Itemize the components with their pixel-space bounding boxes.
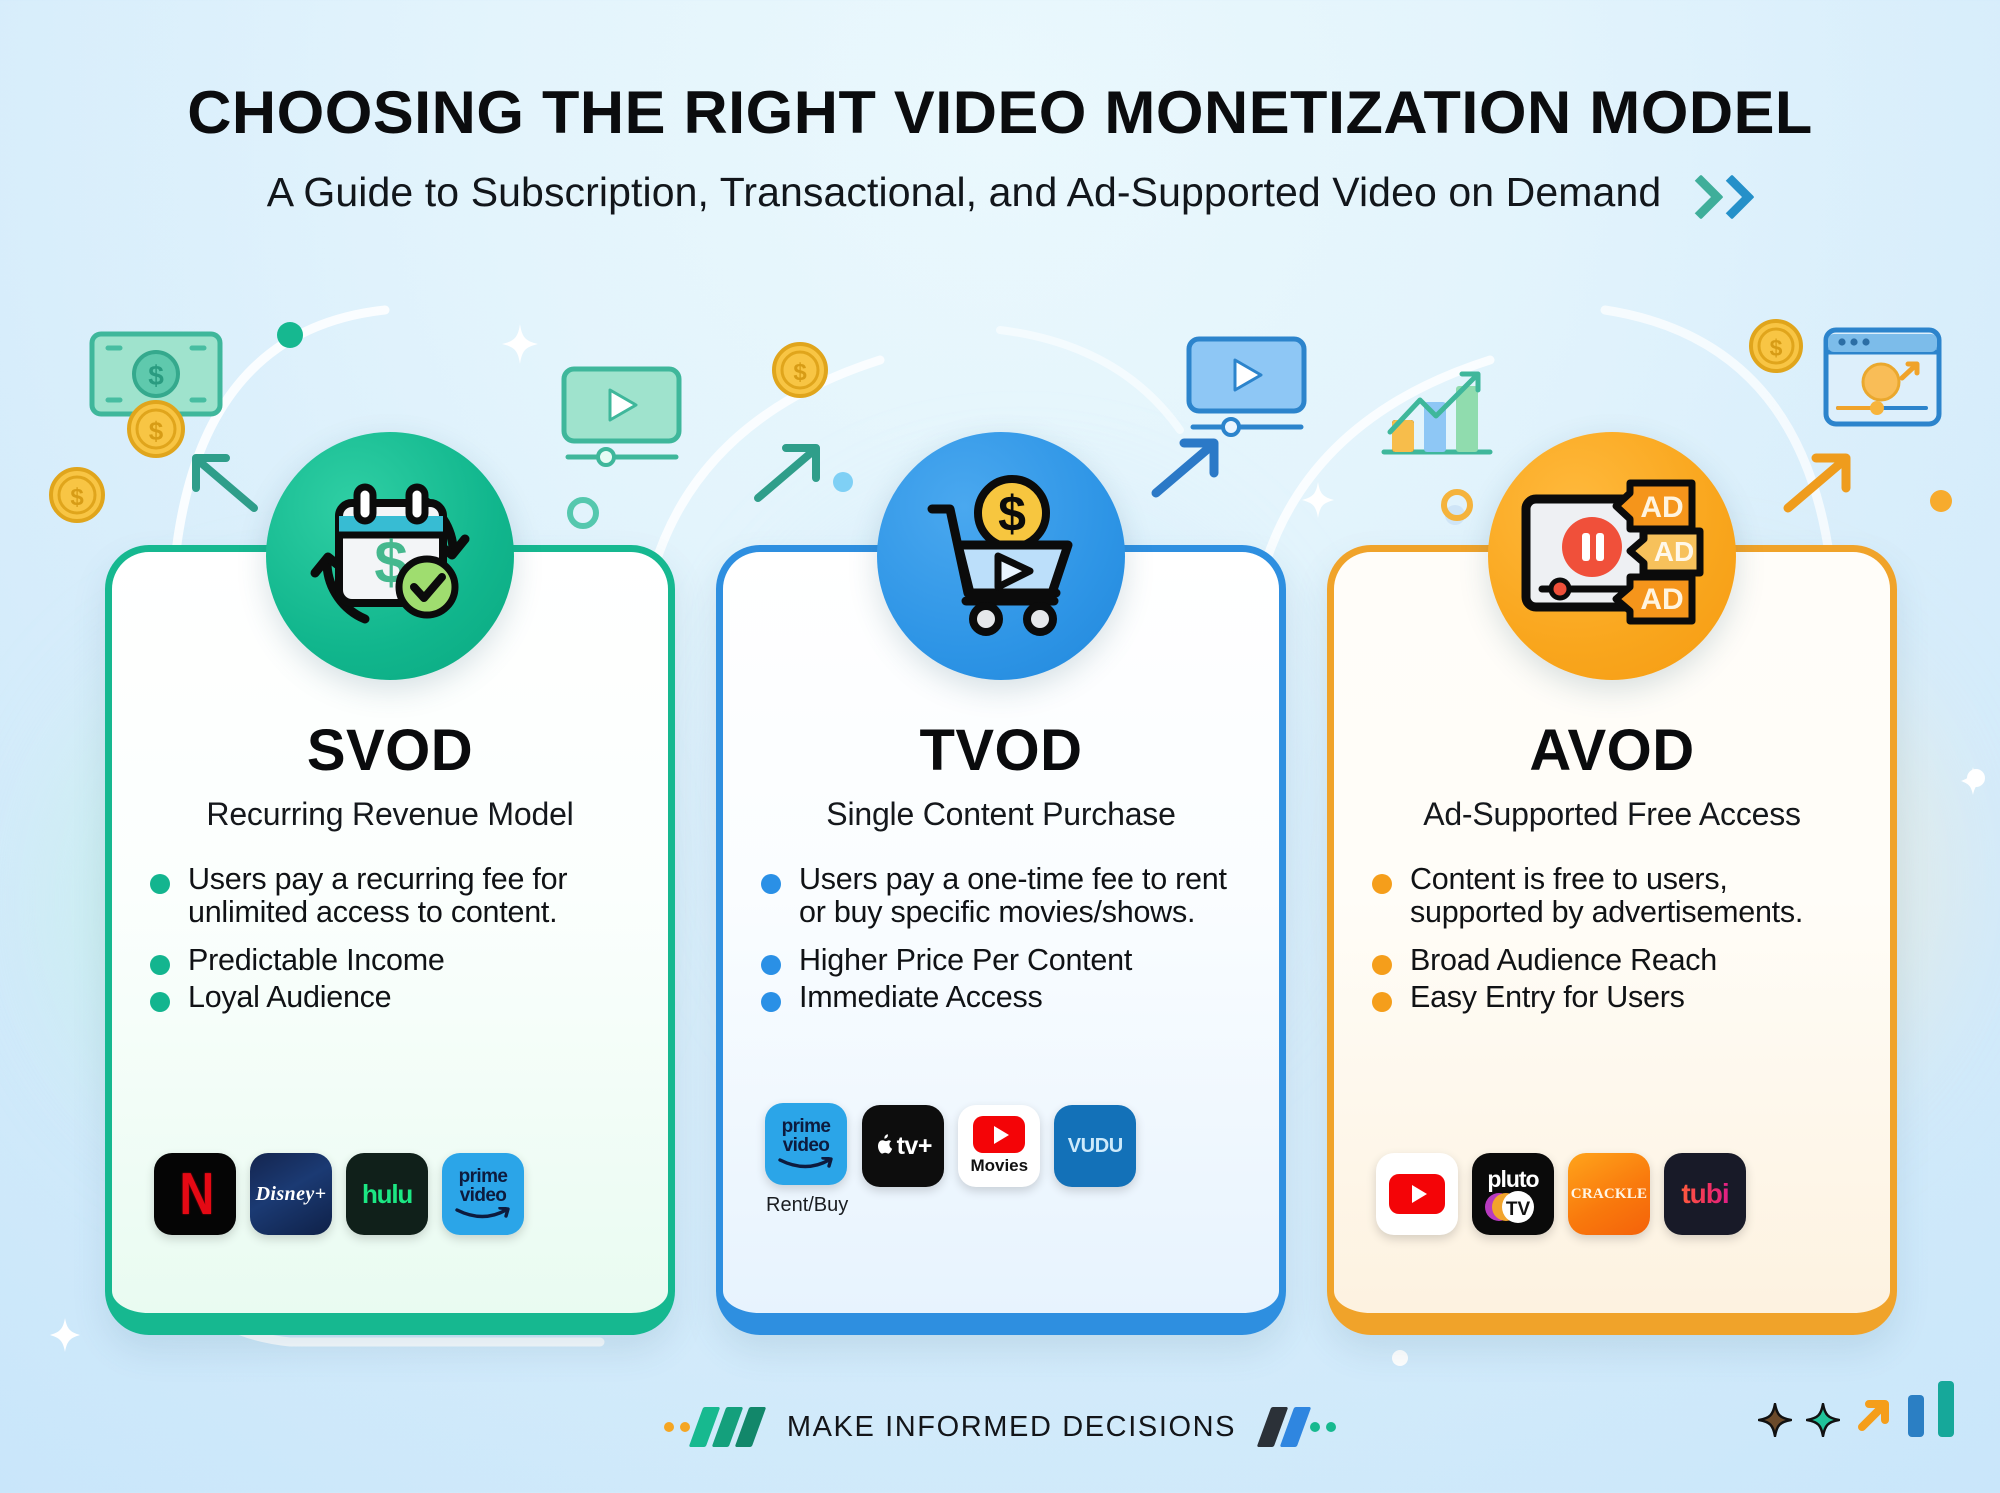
footer: MAKE INFORMED DECISIONS xyxy=(0,1407,2000,1447)
brand-youtube-icon[interactable] xyxy=(1376,1153,1458,1235)
netflix-label: N xyxy=(179,1169,210,1219)
card-tvod[interactable]: $ TVOD Single Content Purchase Users pay… xyxy=(716,545,1286,1335)
brand-note: Rent/Buy xyxy=(766,1194,848,1217)
brand-tubi-icon[interactable]: tubi xyxy=(1664,1153,1746,1235)
bullet-text: Users pay a one-time fee to rent or buy … xyxy=(799,863,1241,928)
slash-marks-icon xyxy=(1264,1407,1336,1447)
bullet-dot-icon xyxy=(1372,955,1392,975)
bar-chart-icon xyxy=(1908,1395,1924,1437)
card-svod[interactable]: $ SVOD Recurring Revenue Model Users pay… xyxy=(105,545,675,1335)
plutotv-logo-icon: pluto TV xyxy=(1475,1163,1551,1225)
bullet-text: Higher Price Per Content xyxy=(799,944,1132,977)
brand-primevideo-icon[interactable]: prime video xyxy=(765,1103,847,1185)
footer-text: MAKE INFORMED DECISIONS xyxy=(787,1411,1236,1444)
bullet-list: Users pay a one-time fee to rent or buy … xyxy=(761,863,1241,1014)
list-item: Loyal Audience xyxy=(150,981,630,1014)
svg-text:TV: TV xyxy=(1506,1199,1531,1220)
youtube-play-icon xyxy=(1389,1174,1445,1214)
list-item: Easy Entry for Users xyxy=(1372,981,1852,1014)
svg-text:pluto: pluto xyxy=(1487,1166,1539,1192)
amazon-smile-icon xyxy=(777,1157,835,1171)
bullet-text: Users pay a recurring fee for unlimited … xyxy=(188,863,630,928)
bullet-text: Broad Audience Reach xyxy=(1410,944,1717,977)
model-tagline: Single Content Purchase xyxy=(761,796,1241,833)
bullet-list: Content is free to users, supported by a… xyxy=(1372,863,1852,1014)
sparkle-icon xyxy=(1758,1403,1792,1437)
arrow-up-right-icon xyxy=(1854,1395,1894,1435)
sparkle-icon xyxy=(1806,1403,1840,1437)
bullet-dot-icon xyxy=(761,955,781,975)
brand-vudu-icon[interactable]: VUDU xyxy=(1054,1105,1136,1187)
slash-marks-icon xyxy=(664,1407,759,1447)
calendar-dollar-recurring-icon: $ xyxy=(266,432,514,680)
apple-logo-icon xyxy=(875,1133,895,1157)
bullet-text: Loyal Audience xyxy=(188,981,391,1014)
youtube-movies-label: Movies xyxy=(970,1156,1028,1176)
bullet-text: Content is free to users, supported by a… xyxy=(1410,863,1852,928)
list-item: Immediate Access xyxy=(761,981,1241,1014)
svg-text:$: $ xyxy=(998,486,1026,542)
brand-hulu-icon[interactable]: hulu xyxy=(346,1153,428,1235)
bullet-text: Immediate Access xyxy=(799,981,1043,1014)
brand-appletv-icon[interactable]: tv+ xyxy=(862,1105,944,1187)
brand-logos-tvod: prime video Rent/Buy tv+ Movies xyxy=(765,1103,1136,1217)
model-name: TVOD xyxy=(761,722,1241,780)
disneyplus-label: Disney+ xyxy=(256,1183,327,1206)
list-item: Users pay a one-time fee to rent or buy … xyxy=(761,863,1241,928)
card-avod[interactable]: AD AD AD AVOD Ad-Supported Free Access C… xyxy=(1327,545,1897,1335)
brand-youtube-movies-icon[interactable]: Movies xyxy=(958,1105,1040,1187)
primevideo-label: prime video xyxy=(765,1117,847,1155)
bullet-dot-icon xyxy=(1372,874,1392,894)
crackle-label: CRACKLE xyxy=(1571,1186,1647,1203)
video-player-ad-tags-icon: AD AD AD xyxy=(1488,432,1736,680)
brand-plutotv-icon[interactable]: pluto TV xyxy=(1472,1153,1554,1235)
list-item: Content is free to users, supported by a… xyxy=(1372,863,1852,928)
bullet-dot-icon xyxy=(150,955,170,975)
bullet-dot-icon xyxy=(150,992,170,1012)
bullet-dot-icon xyxy=(150,874,170,894)
tubi-label: tubi xyxy=(1681,1178,1728,1210)
primevideo-label: prime video xyxy=(442,1167,524,1205)
appletv-label: tv+ xyxy=(897,1132,932,1161)
bullet-text: Easy Entry for Users xyxy=(1410,981,1685,1014)
model-name: SVOD xyxy=(150,722,630,780)
shopping-cart-dollar-play-icon: $ xyxy=(877,432,1125,680)
hulu-label: hulu xyxy=(362,1179,412,1210)
vudu-label: VUDU xyxy=(1068,1135,1123,1158)
svg-text:AD: AD xyxy=(1654,536,1694,567)
brand-disneyplus-icon[interactable]: Disney+ xyxy=(250,1153,332,1235)
svg-text:AD: AD xyxy=(1640,491,1683,524)
bullet-text: Predictable Income xyxy=(188,944,445,977)
list-item: Broad Audience Reach xyxy=(1372,944,1852,977)
bullet-dot-icon xyxy=(1372,992,1392,1012)
bullet-dot-icon xyxy=(761,874,781,894)
brand-logos-avod: pluto TV CRACKLE tubi xyxy=(1376,1153,1746,1235)
footer-corner-icons xyxy=(1758,1381,1954,1437)
brand-netflix-icon[interactable]: N xyxy=(154,1153,236,1235)
cards-container: $ SVOD Recurring Revenue Model Users pay… xyxy=(0,0,2000,1493)
brand-primevideo-icon[interactable]: prime video xyxy=(442,1153,524,1235)
brand-crackle-icon[interactable]: CRACKLE xyxy=(1568,1153,1650,1235)
bar-chart-icon xyxy=(1938,1381,1954,1437)
list-item: Higher Price Per Content xyxy=(761,944,1241,977)
bullet-dot-icon xyxy=(761,992,781,1012)
brand-logos-svod: N Disney+ hulu prime video xyxy=(154,1153,524,1235)
model-name: AVOD xyxy=(1372,722,1852,780)
list-item: Users pay a recurring fee for unlimited … xyxy=(150,863,630,928)
list-item: Predictable Income xyxy=(150,944,630,977)
svg-text:AD: AD xyxy=(1640,583,1683,616)
youtube-play-icon xyxy=(973,1116,1025,1153)
model-tagline: Recurring Revenue Model xyxy=(150,796,630,833)
bullet-list: Users pay a recurring fee for unlimited … xyxy=(150,863,630,1014)
model-tagline: Ad-Supported Free Access xyxy=(1372,796,1852,833)
amazon-smile-icon xyxy=(454,1207,512,1221)
